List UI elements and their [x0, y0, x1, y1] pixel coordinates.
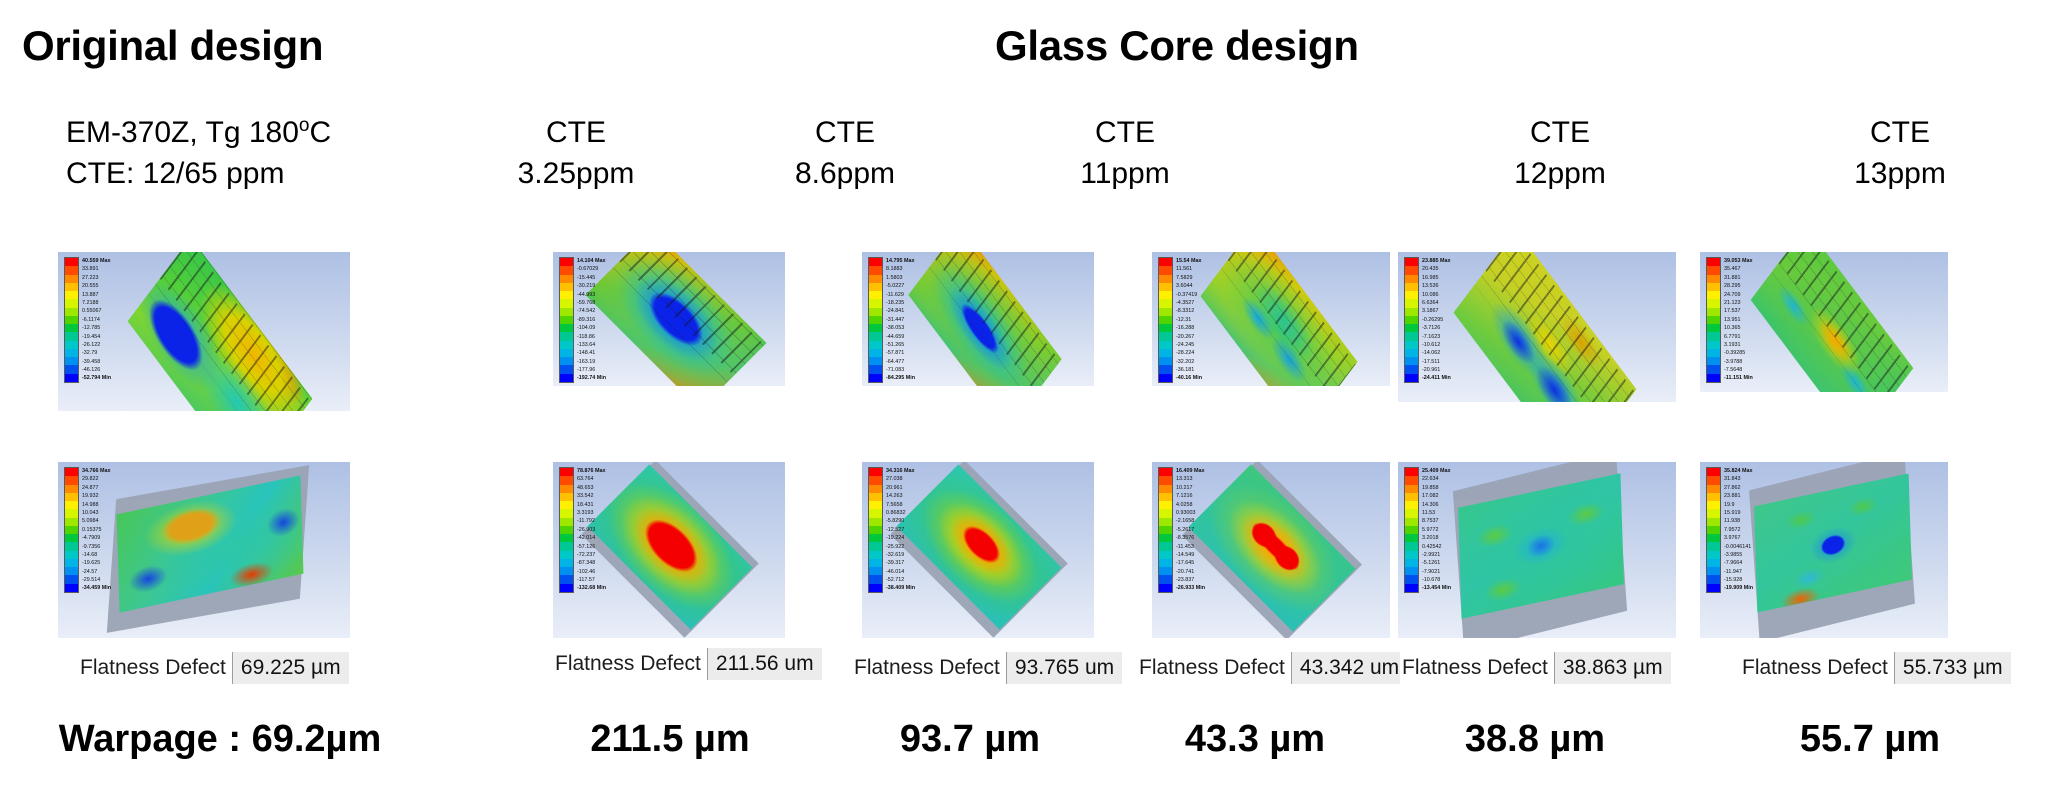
contour-legend-cte11-top: 15.54 Max11.5617.58293.6044-0.37419-4.35…: [1158, 257, 1202, 383]
legend-tick-label: -133.64: [577, 341, 606, 349]
legend-tick-label: -7.1623: [1422, 333, 1451, 341]
legend-tick-label: 7.5658: [886, 501, 915, 509]
legend-tick-label: 13.313: [1176, 475, 1205, 483]
legend-color-swatch: [65, 258, 78, 266]
legend-tick-label: 15.54 Max: [1176, 257, 1202, 265]
legend-tick-label: -42.014: [577, 534, 606, 542]
legend-tick-label: -44.993: [577, 291, 606, 299]
legend-color-swatch: [560, 501, 573, 509]
cte-value-col1: 3.25ppm: [451, 153, 701, 194]
legend-tick-label: 11.938: [1724, 517, 1753, 525]
legend-tick-label: -163.19: [577, 358, 606, 366]
legend-tick-label: -18.235: [886, 299, 915, 307]
legend-color-swatch: [560, 341, 573, 349]
page-title-glass-core: Glass Core design: [995, 22, 1359, 70]
legend-color-swatch: [560, 324, 573, 332]
legend-color-swatch: [869, 341, 882, 349]
legend-color-swatch: [869, 299, 882, 307]
legend-color-swatch: [1707, 374, 1720, 382]
legend-tick-label: 14.795 Max: [886, 257, 915, 265]
contour-legend-cte325-bottom: 78.876 Max63.76448.65333.54218.4313.3193…: [559, 467, 606, 593]
legend-tick-label: -64.477: [886, 358, 915, 366]
legend-tick-label: -3.9855: [1724, 551, 1753, 559]
legend-tick-label: 3.1867: [1422, 307, 1451, 315]
legend-color-swatch: [65, 275, 78, 283]
legend-color-swatch: [1159, 534, 1172, 542]
original-spec-line2: CTE: 12/65 ppm: [66, 157, 284, 190]
flatness-defect-value: 43.342 um: [1291, 652, 1407, 684]
legend-tick-label: 33.891: [82, 265, 111, 273]
legend-color-swatch: [65, 559, 78, 567]
legend-color-swatch: [1405, 551, 1418, 559]
legend-tick-label: -19.625: [82, 559, 111, 567]
legend-tick-label: 29.822: [82, 475, 111, 483]
simulation-plot-cte325-bottom: 78.876 Max63.76448.65333.54218.4313.3193…: [553, 462, 785, 638]
legend-tick-label: 63.764: [577, 475, 606, 483]
legend-tick-label: -117.57: [577, 576, 606, 584]
legend-color-swatch: [869, 316, 882, 324]
legend-color-swatch: [1707, 485, 1720, 493]
legend-tick-label: -29.514: [82, 576, 111, 584]
legend-tick-label: 6.7791: [1724, 333, 1753, 341]
legend-tick-label: -19.909 Min: [1724, 584, 1753, 592]
contour-legend-cte325-top: 14.104 Max-0.67029-15.445-30.219-44.993-…: [559, 257, 606, 383]
legend-tick-label: 4.0258: [1176, 501, 1205, 509]
legend-color-swatch: [1159, 316, 1172, 324]
simulation-plot-cte86-top: 14.795 Max8.18831.5803-5.0227-11.629-18.…: [862, 252, 1094, 386]
legend-tick-label: -71.083: [886, 366, 915, 374]
legend-tick-label: 27.038: [886, 475, 915, 483]
page-title-original: Original design: [22, 22, 323, 70]
cte-value-col4: 12ppm: [1435, 153, 1685, 194]
legend-color-swatch: [869, 349, 882, 357]
legend-color-swatch: [1405, 308, 1418, 316]
legend-tick-label: -32.619: [886, 551, 915, 559]
legend-color-swatch: [65, 526, 78, 534]
legend-color-swatch: [560, 365, 573, 373]
cte-label-col2: CTE: [720, 112, 970, 153]
legend-color-swatch: [65, 567, 78, 575]
legend-tick-label: -84.295 Min: [886, 374, 915, 382]
contour-legend-cte11-bottom: 16.409 Max13.31310.2177.12164.02580.9300…: [1158, 467, 1205, 593]
contour-legend-cte12-bottom: 25.409 Max22.63419.85817.08214.30611.538…: [1404, 467, 1451, 593]
legend-tick-label: 24.709: [1724, 291, 1753, 299]
legend-color-swatch: [1159, 324, 1172, 332]
warpage-value-original: Warpage : 69.2µm: [25, 718, 415, 761]
legend-color-swatch: [1405, 283, 1418, 291]
flatness-defect-label: Flatness Defect: [852, 652, 1006, 684]
legend-tick-label: -19.224: [886, 534, 915, 542]
legend-tick-label: -2.1658: [1176, 517, 1205, 525]
legend-color-swatch: [1159, 299, 1172, 307]
legend-tick-label: 13.887: [82, 291, 111, 299]
legend-colorbar: [64, 467, 79, 593]
legend-color-swatch: [869, 266, 882, 274]
legend-color-swatch: [1405, 584, 1418, 592]
simulation-plot-cte12-bottom: 25.409 Max22.63419.85817.08214.30611.538…: [1398, 462, 1676, 638]
legend-tick-label: 23.885 Max: [1422, 257, 1451, 265]
legend-color-swatch: [1707, 332, 1720, 340]
legend-color-swatch: [869, 365, 882, 373]
original-spec-material: EM-370Z, Tg 180: [66, 116, 299, 149]
legend-tick-label: -39.458: [82, 358, 111, 366]
legend-color-swatch: [1405, 542, 1418, 550]
legend-tick-label: -0.37419: [1176, 291, 1202, 299]
legend-color-swatch: [65, 332, 78, 340]
legend-tick-label: -11.629: [886, 291, 915, 299]
legend-tick-label: -104.09: [577, 324, 606, 332]
legend-tick-label: 34.316 Max: [886, 467, 915, 475]
legend-color-swatch: [560, 526, 573, 534]
legend-tick-label: 27.223: [82, 274, 111, 282]
legend-color-swatch: [560, 559, 573, 567]
legend-color-swatch: [1159, 332, 1172, 340]
original-spec-line1: EM-370Z, Tg 180oC: [66, 116, 331, 149]
legend-color-swatch: [1405, 493, 1418, 501]
cte-caption-col4: CTE 12ppm: [1435, 112, 1685, 194]
legend-color-swatch: [869, 542, 882, 550]
legend-color-swatch: [1405, 275, 1418, 283]
legend-tick-label: 1.5803: [886, 274, 915, 282]
cte-value-col5: 13ppm: [1775, 153, 2025, 194]
legend-tick-label: 3.1931: [1724, 341, 1753, 349]
legend-tick-label: 16.985: [1422, 274, 1451, 282]
legend-tick-label: -14.062: [1422, 349, 1451, 357]
legend-tick-label: 3.2018: [1422, 534, 1451, 542]
cte-caption-col3: CTE 11ppm: [1000, 112, 1250, 194]
legend-labels: 14.795 Max8.18831.5803-5.0227-11.629-18.…: [886, 257, 915, 383]
legend-color-swatch: [560, 567, 573, 575]
legend-tick-label: -40.16 Min: [1176, 374, 1202, 382]
legend-color-swatch: [869, 374, 882, 382]
legend-tick-label: 15.919: [1724, 509, 1753, 517]
legend-color-swatch: [65, 316, 78, 324]
legend-tick-label: 17.082: [1422, 492, 1451, 500]
legend-color-swatch: [560, 332, 573, 340]
legend-color-swatch: [1707, 349, 1720, 357]
legend-tick-label: -0.67029: [577, 265, 606, 273]
legend-tick-label: 35.467: [1724, 265, 1753, 273]
legend-color-swatch: [1707, 493, 1720, 501]
flatness-defect-value: 38.863 µm: [1554, 652, 1671, 684]
legend-color-swatch: [560, 283, 573, 291]
simulation-plot-cte11-top: 15.54 Max11.5617.58293.6044-0.37419-4.35…: [1152, 252, 1390, 386]
legend-color-swatch: [1405, 567, 1418, 575]
legend-tick-label: -59.768: [577, 299, 606, 307]
legend-colorbar: [64, 257, 79, 383]
legend-tick-label: -6.1174: [82, 316, 111, 324]
legend-color-swatch: [65, 299, 78, 307]
legend-tick-label: -14.68: [82, 551, 111, 559]
legend-color-swatch: [560, 275, 573, 283]
legend-color-swatch: [1405, 509, 1418, 517]
legend-tick-label: -57.871: [886, 349, 915, 357]
legend-tick-label: 3.6044: [1176, 282, 1202, 290]
legend-color-swatch: [1707, 534, 1720, 542]
flatness-defect-readout-cte12: Flatness Defect 38.863 µm: [1400, 652, 1671, 684]
legend-tick-label: 3.9767: [1724, 534, 1753, 542]
contour-legend-cte12-top: 23.885 Max20.43516.98513.53610.0866.6364…: [1404, 257, 1451, 383]
legend-color-swatch: [1159, 518, 1172, 526]
simulation-plot-original-bottom: 34.766 Max29.82224.87719.93214.98810.043…: [58, 462, 350, 638]
legend-color-swatch: [65, 468, 78, 476]
legend-color-swatch: [1707, 575, 1720, 583]
cte-value-col2: 8.6ppm: [720, 153, 970, 194]
legend-colorbar: [1158, 467, 1173, 593]
legend-tick-label: 31.843: [1724, 475, 1753, 483]
legend-color-swatch: [560, 357, 573, 365]
simulation-plot-cte13-bottom: 35.824 Max31.84327.86223.88119.915.91911…: [1700, 462, 1948, 638]
legend-color-swatch: [1405, 341, 1418, 349]
legend-tick-label: -102.46: [577, 568, 606, 576]
legend-color-swatch: [1707, 551, 1720, 559]
legend-color-swatch: [869, 518, 882, 526]
legend-tick-label: -46.126: [82, 366, 111, 374]
legend-tick-label: 14.104 Max: [577, 257, 606, 265]
legend-tick-label: -0.26295: [1422, 316, 1451, 324]
legend-color-swatch: [1159, 476, 1172, 484]
flatness-defect-value: 211.56 um: [707, 648, 822, 680]
legend-tick-label: 39.053 Max: [1724, 257, 1753, 265]
legend-tick-label: 3.3193: [577, 509, 606, 517]
flatness-defect-readout-cte86: Flatness Defect 93.765 um: [852, 652, 1122, 684]
legend-tick-label: 20.961: [886, 484, 915, 492]
legend-tick-label: 7.9572: [1724, 526, 1753, 534]
legend-color-swatch: [65, 283, 78, 291]
legend-tick-label: -28.224: [1176, 349, 1202, 357]
legend-tick-label: -7.9664: [1724, 559, 1753, 567]
flatness-defect-value: 93.765 um: [1006, 652, 1122, 684]
legend-color-swatch: [869, 559, 882, 567]
legend-labels: 78.876 Max63.76448.65333.54218.4313.3193…: [577, 467, 606, 593]
simulation-plot-cte325-top: 14.104 Max-0.67029-15.445-30.219-44.993-…: [553, 252, 785, 386]
legend-color-swatch: [1405, 316, 1418, 324]
legend-tick-label: -17.645: [1176, 559, 1205, 567]
legend-tick-label: 35.824 Max: [1724, 467, 1753, 475]
legend-color-swatch: [65, 324, 78, 332]
cte-value-col3: 11ppm: [1000, 153, 1250, 194]
legend-tick-label: 0.93003: [1176, 509, 1205, 517]
legend-tick-label: 8.7537: [1422, 517, 1451, 525]
legend-color-swatch: [560, 258, 573, 266]
legend-colorbar: [1706, 257, 1721, 383]
legend-color-swatch: [560, 308, 573, 316]
warpage-value-cte11: 43.3 µm: [1130, 718, 1380, 761]
flatness-defect-value: 55.733 µm: [1894, 652, 2011, 684]
legend-color-swatch: [560, 299, 573, 307]
legend-tick-label: -10.612: [1422, 341, 1451, 349]
legend-color-swatch: [65, 266, 78, 274]
legend-color-swatch: [560, 374, 573, 382]
flatness-defect-label: Flatness Defect: [1137, 652, 1291, 684]
legend-color-swatch: [1707, 584, 1720, 592]
legend-tick-label: -57.126: [577, 543, 606, 551]
legend-tick-label: -15.445: [577, 274, 606, 282]
legend-tick-label: -19.454: [82, 333, 111, 341]
legend-color-swatch: [869, 567, 882, 575]
legend-tick-label: 8.1883: [886, 265, 915, 273]
legend-tick-label: 0.42542: [1422, 543, 1451, 551]
flatness-defect-label: Flatness Defect: [1400, 652, 1554, 684]
legend-color-swatch: [1159, 357, 1172, 365]
legend-tick-label: 14.988: [82, 501, 111, 509]
original-design-spec: EM-370Z, Tg 180oC CTE: 12/65 ppm: [66, 112, 331, 194]
legend-color-swatch: [1159, 291, 1172, 299]
legend-color-swatch: [869, 575, 882, 583]
legend-color-swatch: [560, 534, 573, 542]
legend-color-swatch: [869, 283, 882, 291]
legend-colorbar: [1706, 467, 1721, 593]
warpage-value-cte13: 55.7 µm: [1745, 718, 1995, 761]
legend-labels: 40.559 Max33.89127.22320.55513.8877.2188…: [82, 257, 111, 383]
flatness-defect-value: 69.225 µm: [232, 652, 349, 684]
legend-color-swatch: [1405, 299, 1418, 307]
legend-tick-label: -11.792: [577, 517, 606, 525]
legend-tick-label: 10.043: [82, 509, 111, 517]
legend-color-swatch: [560, 349, 573, 357]
legend-colorbar: [559, 257, 574, 383]
legend-color-swatch: [1707, 258, 1720, 266]
legend-tick-label: -46.014: [886, 568, 915, 576]
legend-color-swatch: [1159, 468, 1172, 476]
legend-color-swatch: [560, 542, 573, 550]
legend-tick-label: 25.409 Max: [1422, 467, 1451, 475]
legend-color-swatch: [869, 534, 882, 542]
flatness-defect-label: Flatness Defect: [553, 648, 707, 680]
legend-color-swatch: [1159, 575, 1172, 583]
legend-tick-label: -4.7909: [82, 534, 111, 542]
legend-color-swatch: [1159, 493, 1172, 501]
legend-tick-label: -39.317: [886, 559, 915, 567]
legend-tick-label: -20.961: [1422, 366, 1451, 374]
cte-label-col4: CTE: [1435, 112, 1685, 153]
legend-color-swatch: [1159, 283, 1172, 291]
legend-tick-label: 20.435: [1422, 265, 1451, 273]
legend-color-swatch: [1405, 365, 1418, 373]
legend-tick-label: 0.55067: [82, 307, 111, 315]
legend-color-swatch: [560, 476, 573, 484]
legend-color-swatch: [1405, 501, 1418, 509]
legend-color-swatch: [65, 357, 78, 365]
legend-tick-label: 13.536: [1422, 282, 1451, 290]
legend-color-swatch: [1159, 501, 1172, 509]
cte-label-col1: CTE: [451, 112, 701, 153]
legend-color-swatch: [869, 291, 882, 299]
legend-tick-label: -10.678: [1422, 576, 1451, 584]
legend-tick-label: -8.3576: [1176, 534, 1205, 542]
legend-colorbar: [1404, 257, 1419, 383]
legend-tick-label: 0.15375: [82, 526, 111, 534]
legend-tick-label: 27.862: [1724, 484, 1753, 492]
legend-tick-label: -11.947: [1724, 568, 1753, 576]
legend-color-swatch: [1159, 365, 1172, 373]
legend-color-swatch: [869, 258, 882, 266]
legend-colorbar: [1158, 257, 1173, 383]
legend-tick-label: 20.555: [82, 282, 111, 290]
legend-tick-label: 14.306: [1422, 501, 1451, 509]
legend-colorbar: [868, 467, 883, 593]
legend-color-swatch: [65, 542, 78, 550]
legend-tick-label: -5.2617: [1176, 526, 1205, 534]
legend-tick-label: 78.876 Max: [577, 467, 606, 475]
legend-tick-label: -16.288: [1176, 324, 1202, 332]
legend-tick-label: -30.219: [577, 282, 606, 290]
legend-tick-label: -5.8290: [886, 517, 915, 525]
legend-tick-label: -24.841: [886, 307, 915, 315]
legend-color-swatch: [1707, 316, 1720, 324]
legend-color-swatch: [869, 551, 882, 559]
legend-tick-label: -89.316: [577, 316, 606, 324]
legend-tick-label: -36.181: [1176, 366, 1202, 374]
legend-color-swatch: [869, 324, 882, 332]
legend-tick-label: -148.41: [577, 349, 606, 357]
legend-tick-label: -0.39285: [1724, 349, 1753, 357]
legend-tick-label: 5.0984: [82, 517, 111, 525]
legend-color-swatch: [1159, 485, 1172, 493]
legend-color-swatch: [560, 291, 573, 299]
legend-color-swatch: [65, 509, 78, 517]
legend-color-swatch: [1159, 559, 1172, 567]
flatness-defect-readout-cte13: Flatness Defect 55.733 µm: [1740, 652, 2011, 684]
legend-tick-label: -11.151 Min: [1724, 374, 1753, 382]
legend-tick-label: -192.74 Min: [577, 374, 606, 382]
legend-color-swatch: [65, 308, 78, 316]
flatness-defect-readout-cte325: Flatness Defect 211.56 um: [553, 648, 822, 680]
legend-tick-label: 0.86832: [886, 509, 915, 517]
legend-color-swatch: [1707, 299, 1720, 307]
legend-tick-label: -8.3312: [1176, 307, 1202, 315]
legend-color-swatch: [1707, 518, 1720, 526]
legend-tick-label: 19.9: [1724, 501, 1753, 509]
legend-tick-label: -17.511: [1422, 358, 1451, 366]
legend-tick-label: -26.903: [577, 526, 606, 534]
cte-caption-col1: CTE 3.25ppm: [451, 112, 701, 194]
warpage-value-cte325: 211.5 µm: [545, 718, 795, 761]
contour-legend-original-top: 40.559 Max33.89127.22320.55513.8877.2188…: [64, 257, 111, 383]
legend-color-swatch: [1405, 349, 1418, 357]
legend-color-swatch: [1159, 308, 1172, 316]
flatness-defect-label: Flatness Defect: [1740, 652, 1894, 684]
legend-tick-label: -31.447: [886, 316, 915, 324]
legend-color-swatch: [1159, 551, 1172, 559]
legend-color-swatch: [1159, 374, 1172, 382]
legend-tick-label: -38.409 Min: [886, 584, 915, 592]
legend-tick-label: 10.086: [1422, 291, 1451, 299]
legend-color-swatch: [65, 291, 78, 299]
legend-color-swatch: [1159, 349, 1172, 357]
legend-color-swatch: [560, 575, 573, 583]
legend-color-swatch: [1707, 275, 1720, 283]
legend-color-swatch: [869, 357, 882, 365]
flatness-defect-readout-original: Flatness Defect 69.225 µm: [78, 652, 349, 684]
legend-labels: 39.053 Max35.46731.88128.29524.70921.123…: [1724, 257, 1753, 383]
original-spec-celsius: C: [309, 116, 331, 149]
contour-legend-original-bottom: 34.766 Max29.82224.87719.93214.98810.043…: [64, 467, 111, 593]
legend-color-swatch: [1405, 266, 1418, 274]
legend-color-swatch: [1707, 357, 1720, 365]
legend-tick-label: 7.5829: [1176, 274, 1202, 282]
legend-color-swatch: [1159, 341, 1172, 349]
legend-tick-label: 19.858: [1422, 484, 1451, 492]
legend-colorbar: [559, 467, 574, 593]
legend-tick-label: -32.202: [1176, 358, 1202, 366]
legend-tick-label: -51.265: [886, 341, 915, 349]
legend-labels: 34.766 Max29.82224.87719.93214.98810.043…: [82, 467, 111, 593]
legend-colorbar: [868, 257, 883, 383]
simulation-plot-original-top: 40.559 Max33.89127.22320.55513.8877.2188…: [58, 252, 350, 411]
legend-tick-label: 10.365: [1724, 324, 1753, 332]
contour-legend-cte86-bottom: 34.316 Max27.03820.96114.2637.56580.8683…: [868, 467, 915, 593]
